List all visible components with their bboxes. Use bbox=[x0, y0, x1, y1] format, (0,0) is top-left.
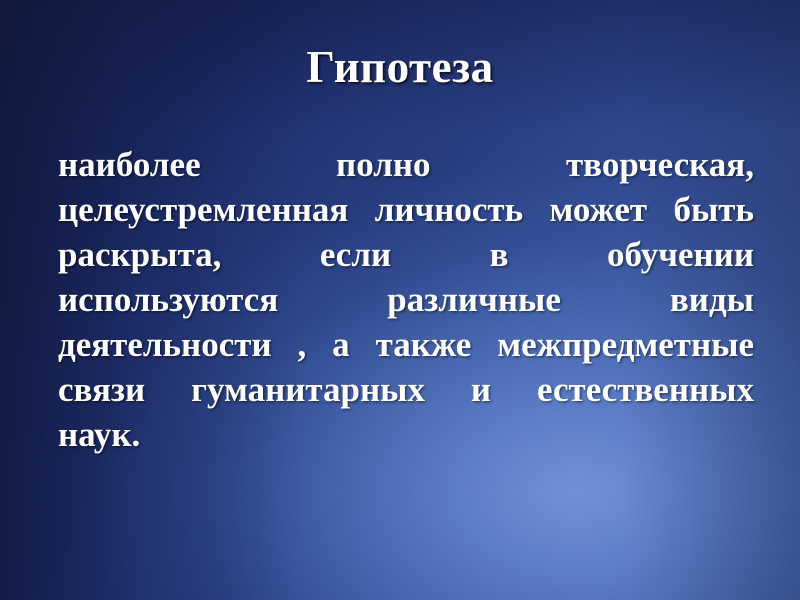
body-line: деятельности,атакжемежпредметные bbox=[58, 322, 754, 367]
body-word: наук. bbox=[58, 412, 140, 457]
body-word: также bbox=[376, 322, 472, 367]
body-word: полно bbox=[336, 142, 431, 187]
body-word: связи bbox=[58, 367, 145, 412]
slide-body-text: наиболееполнотворческая,целеустремленная… bbox=[58, 142, 754, 457]
body-word: обучении bbox=[607, 232, 754, 277]
body-word: естественных bbox=[537, 367, 754, 412]
body-word: гуманитарных bbox=[191, 367, 425, 412]
body-word: может bbox=[549, 187, 647, 232]
presentation-slide: Гипотеза наиболееполнотворческая,целеуст… bbox=[0, 0, 800, 600]
body-word: раскрыта, bbox=[58, 232, 221, 277]
body-word: а bbox=[332, 322, 350, 367]
body-word: личность bbox=[375, 187, 523, 232]
body-word: быть bbox=[673, 187, 754, 232]
body-line: раскрыта,есливобучении bbox=[58, 232, 754, 277]
body-word: если bbox=[320, 232, 391, 277]
body-line: используютсяразличныевиды bbox=[58, 277, 754, 322]
body-line: наук. bbox=[58, 412, 754, 457]
body-word: и bbox=[471, 367, 491, 412]
body-word: используются bbox=[58, 277, 278, 322]
body-word: межпредметные bbox=[497, 322, 754, 367]
body-word: различные bbox=[387, 277, 561, 322]
body-word: в bbox=[490, 232, 509, 277]
body-line: связигуманитарныхиестественных bbox=[58, 367, 754, 412]
body-line: наиболееполнотворческая, bbox=[58, 142, 754, 187]
body-word: , bbox=[298, 322, 307, 367]
body-word: наиболее bbox=[58, 142, 201, 187]
body-word: творческая, bbox=[566, 142, 754, 187]
slide-title: Гипотеза bbox=[0, 44, 800, 91]
body-line: целеустремленнаяличностьможетбыть bbox=[58, 187, 754, 232]
body-word: виды bbox=[670, 277, 754, 322]
body-word: целеустремленная bbox=[58, 187, 348, 232]
body-word: деятельности bbox=[58, 322, 272, 367]
